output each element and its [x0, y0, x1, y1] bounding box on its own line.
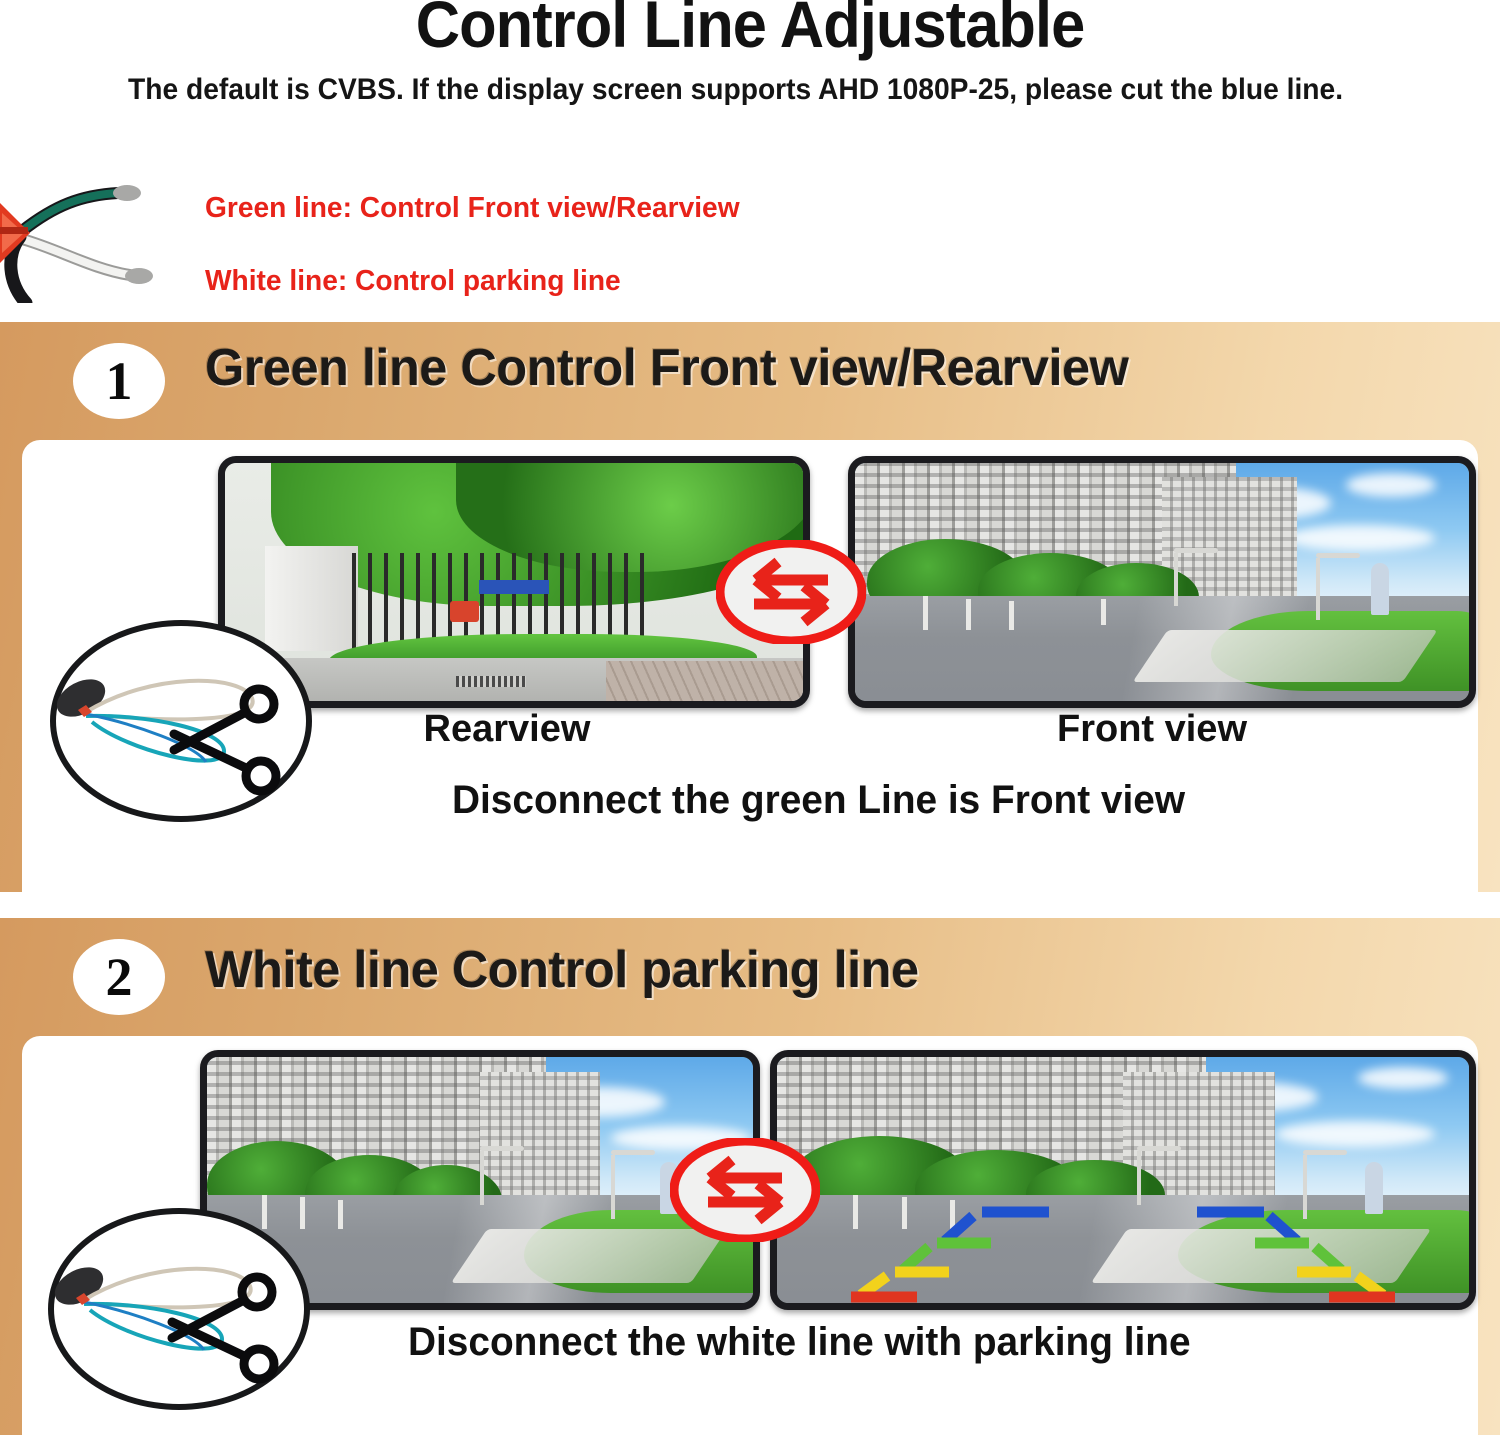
frontview-caption: Front view	[972, 708, 1332, 751]
swap-arrows-icon	[716, 540, 866, 644]
cut-green-line-illustration	[50, 620, 312, 822]
section-1-badge: 1	[73, 343, 165, 419]
swap-arrows-icon	[670, 1138, 820, 1242]
intro-block: Control Line Adjustable The default is C…	[0, 0, 1500, 318]
section-1-footer: Disconnect the green Line is Front view	[452, 778, 1185, 823]
page-title: Control Line Adjustable	[53, 0, 1448, 62]
section-green-line: 1 Green line Control Front view/Rearview	[0, 322, 1500, 892]
section-2-header: 2 White line Control parking line	[0, 918, 1500, 1036]
wire-harness-illustration	[0, 183, 190, 303]
section-2-badge: 2	[73, 939, 165, 1015]
section-1-body: Rearview Front view Disconnect the green…	[22, 440, 1478, 892]
parking-on-screen	[770, 1050, 1476, 1310]
green-line-label: Green line: Control Front view/Rearview	[205, 192, 740, 225]
rearview-caption: Rearview	[332, 708, 682, 751]
section-2-body: Disconnect the white line with parking l…	[22, 1036, 1478, 1435]
scissors-icon	[54, 1214, 304, 1404]
frontview-screen	[848, 456, 1476, 708]
section-1-header: 1 Green line Control Front view/Rearview	[0, 322, 1500, 440]
section-white-line: 2 White line Control parking line	[0, 918, 1500, 1435]
scissors-icon	[56, 626, 306, 816]
white-line-label: White line: Control parking line	[205, 265, 621, 298]
section-2-title: White line Control parking line	[205, 940, 919, 1000]
parking-guide-lines	[777, 1057, 1469, 1303]
section-2-footer: Disconnect the white line with parking l…	[408, 1320, 1191, 1365]
intro-description: The default is CVBS. If the display scre…	[128, 72, 1350, 109]
cut-white-line-illustration	[48, 1208, 310, 1410]
section-1-title: Green line Control Front view/Rearview	[205, 338, 1128, 398]
